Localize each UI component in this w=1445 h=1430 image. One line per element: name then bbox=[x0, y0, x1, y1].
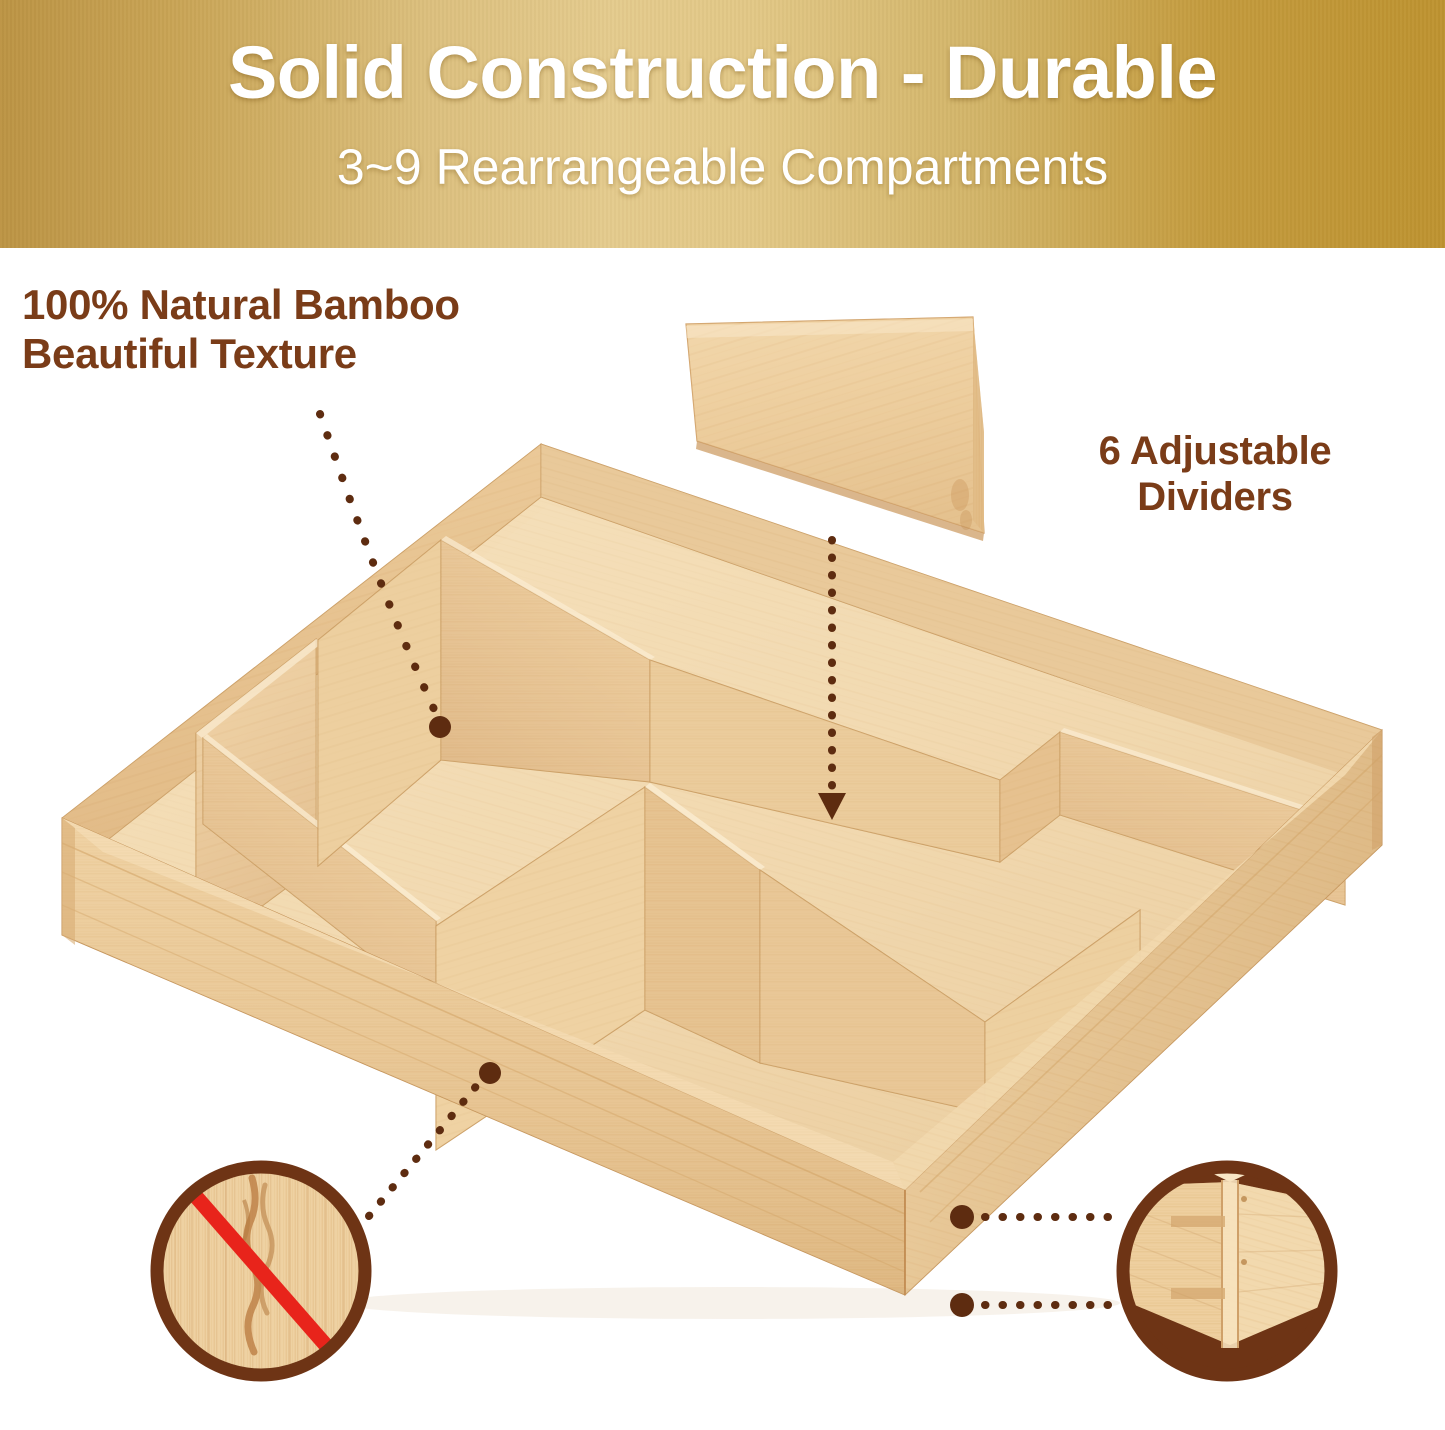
callout-natural-bamboo: 100% Natural Bamboo Beautiful Texture bbox=[22, 281, 642, 378]
loose-divider-plank bbox=[686, 317, 984, 541]
callout-adjustable-dividers: 6 Adjustable Dividers bbox=[1000, 428, 1430, 521]
banner-title: Solid Construction - Durable bbox=[0, 34, 1445, 112]
infographic-canvas: Solid Construction - Durable 3~9 Rearran… bbox=[0, 0, 1445, 1430]
banner-subtitle: 3~9 Rearrangeable Compartments bbox=[0, 140, 1445, 195]
callout-natural-bamboo-line1: 100% Natural Bamboo bbox=[22, 281, 642, 330]
product-illustration bbox=[0, 0, 1445, 1430]
callout-natural-bamboo-line2: Beautiful Texture bbox=[22, 330, 642, 379]
callout-adjustable-dividers-line2: Dividers bbox=[1000, 474, 1430, 520]
callout-adjustable-dividers-line1: 6 Adjustable bbox=[1000, 428, 1430, 474]
no-big-bamboo-grains-circle bbox=[157, 1167, 365, 1375]
reinforced-corners-circle bbox=[1123, 1167, 1335, 1375]
